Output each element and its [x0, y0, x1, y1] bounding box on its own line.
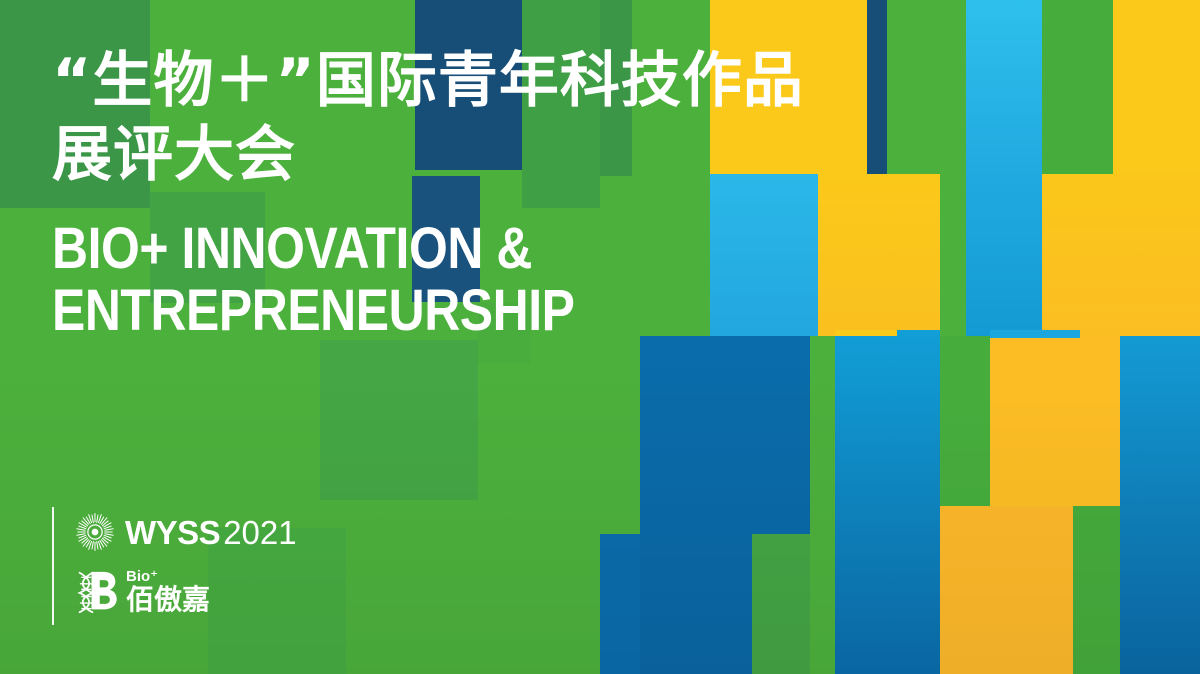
event-poster: “生物＋”国际青年科技作品 展评大会 BIO+ INNOVATION & ENT…	[0, 0, 1200, 674]
logo-lockup: WYSS 2021	[52, 505, 382, 627]
dna-b-icon	[74, 570, 120, 614]
bio-plus-superscript: Bio⁺	[126, 569, 210, 584]
sunburst-icon	[74, 511, 116, 553]
baiaojia-wordmark-chinese: 佰傲嘉	[126, 586, 210, 614]
logo-wyss: WYSS 2021	[74, 511, 297, 553]
page-title-english: BIO+ INNOVATION & ENTREPRENEURSHIP	[52, 218, 706, 342]
page-title-chinese: “生物＋”国际青年科技作品 展评大会	[52, 44, 952, 192]
wyss-wordmark: WYSS	[125, 516, 220, 549]
poster-content: “生物＋”国际青年科技作品 展评大会 BIO+ INNOVATION & ENT…	[0, 0, 1200, 674]
logo-baiaojia: Bio⁺ 佰傲嘉	[74, 569, 210, 614]
wyss-year: 2021	[223, 516, 296, 549]
logo-divider-line	[52, 507, 54, 625]
